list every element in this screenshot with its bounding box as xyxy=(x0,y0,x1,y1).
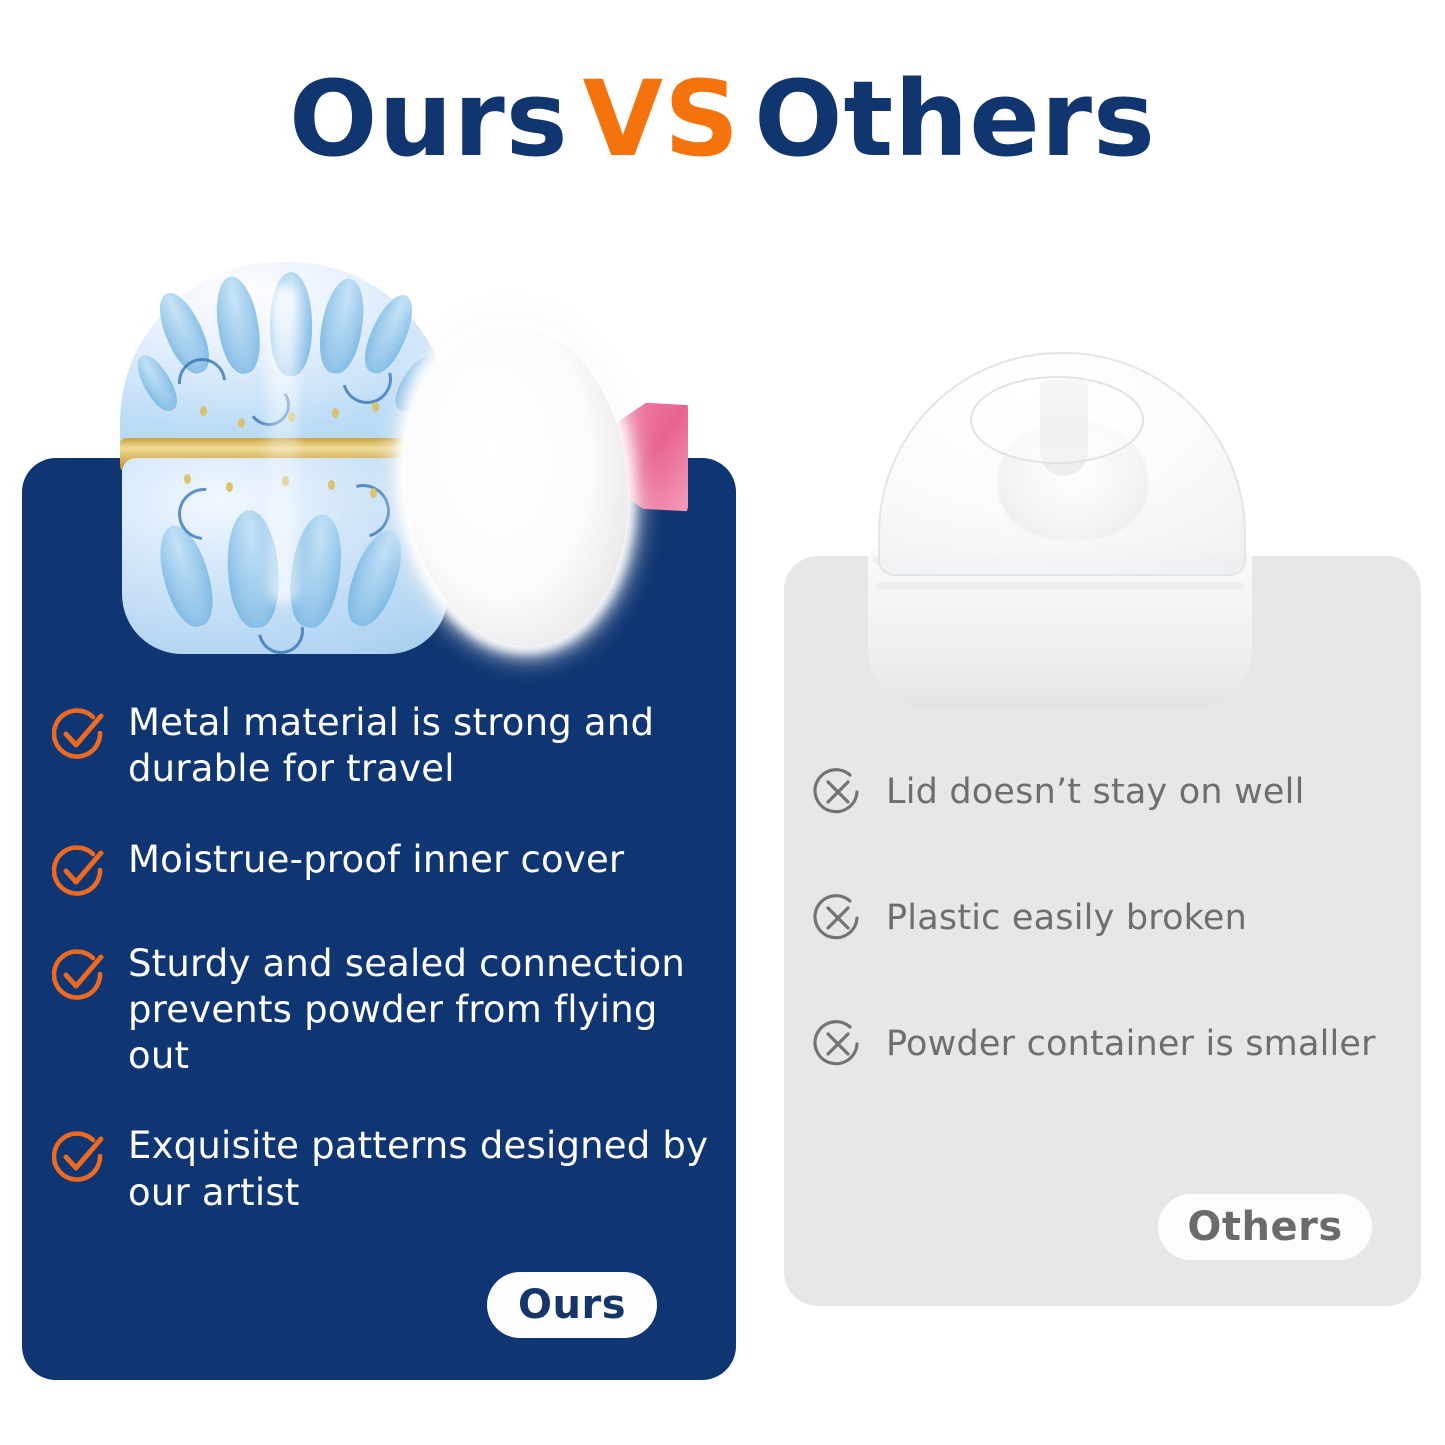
title-others-word: Others xyxy=(754,58,1156,180)
others-drawback-item: Lid doesn’t stay on well xyxy=(812,766,1402,818)
ours-feature-text: Metal material is strong and durable for… xyxy=(128,700,720,793)
x-circle-icon xyxy=(812,1018,864,1070)
ours-product-image xyxy=(108,248,708,668)
others-drawback-text: Lid doesn’t stay on well xyxy=(886,771,1305,813)
ours-feature-list: Metal material is strong and durable for… xyxy=(52,700,720,1216)
ours-feature-item: Sturdy and sealed connection prevents po… xyxy=(52,941,720,1080)
ours-feature-text: Exquisite patterns designed by our artis… xyxy=(128,1123,720,1216)
ours-feature-text: Moistrue-proof inner cover xyxy=(128,837,624,883)
others-drawback-text: Plastic easily broken xyxy=(886,897,1247,939)
ours-feature-item: Moistrue-proof inner cover xyxy=(52,837,720,897)
check-circle-icon xyxy=(52,706,106,760)
plastic-container-rim-lower xyxy=(876,582,1244,590)
lid-top-ring xyxy=(970,376,1144,464)
others-drawback-text: Powder container is smaller xyxy=(886,1023,1376,1065)
x-circle-icon xyxy=(812,892,864,944)
tin-highlight xyxy=(268,284,298,604)
clear-dome-lid xyxy=(878,352,1246,576)
others-product-image xyxy=(860,352,1260,712)
ours-badge: Ours xyxy=(487,1272,657,1338)
title-ours-word: Ours xyxy=(289,58,569,180)
title-vs-word: VS xyxy=(583,58,740,180)
comparison-infographic: OursVSOthers xyxy=(0,0,1445,1445)
ours-feature-item: Exquisite patterns designed by our artis… xyxy=(52,1123,720,1216)
check-circle-icon xyxy=(52,843,106,897)
others-drawback-list: Lid doesn’t stay on well Plastic easily … xyxy=(812,766,1402,1070)
check-circle-icon xyxy=(52,1129,106,1183)
check-circle-icon xyxy=(52,947,106,1001)
ours-feature-item: Metal material is strong and durable for… xyxy=(52,700,720,793)
page-title: OursVSOthers xyxy=(0,62,1445,176)
ours-feature-text: Sturdy and sealed connection prevents po… xyxy=(128,941,720,1080)
x-circle-icon xyxy=(812,766,864,818)
others-drawback-item: Powder container is smaller xyxy=(812,1018,1402,1070)
others-badge: Others xyxy=(1158,1194,1372,1260)
others-drawback-item: Plastic easily broken xyxy=(812,892,1402,944)
